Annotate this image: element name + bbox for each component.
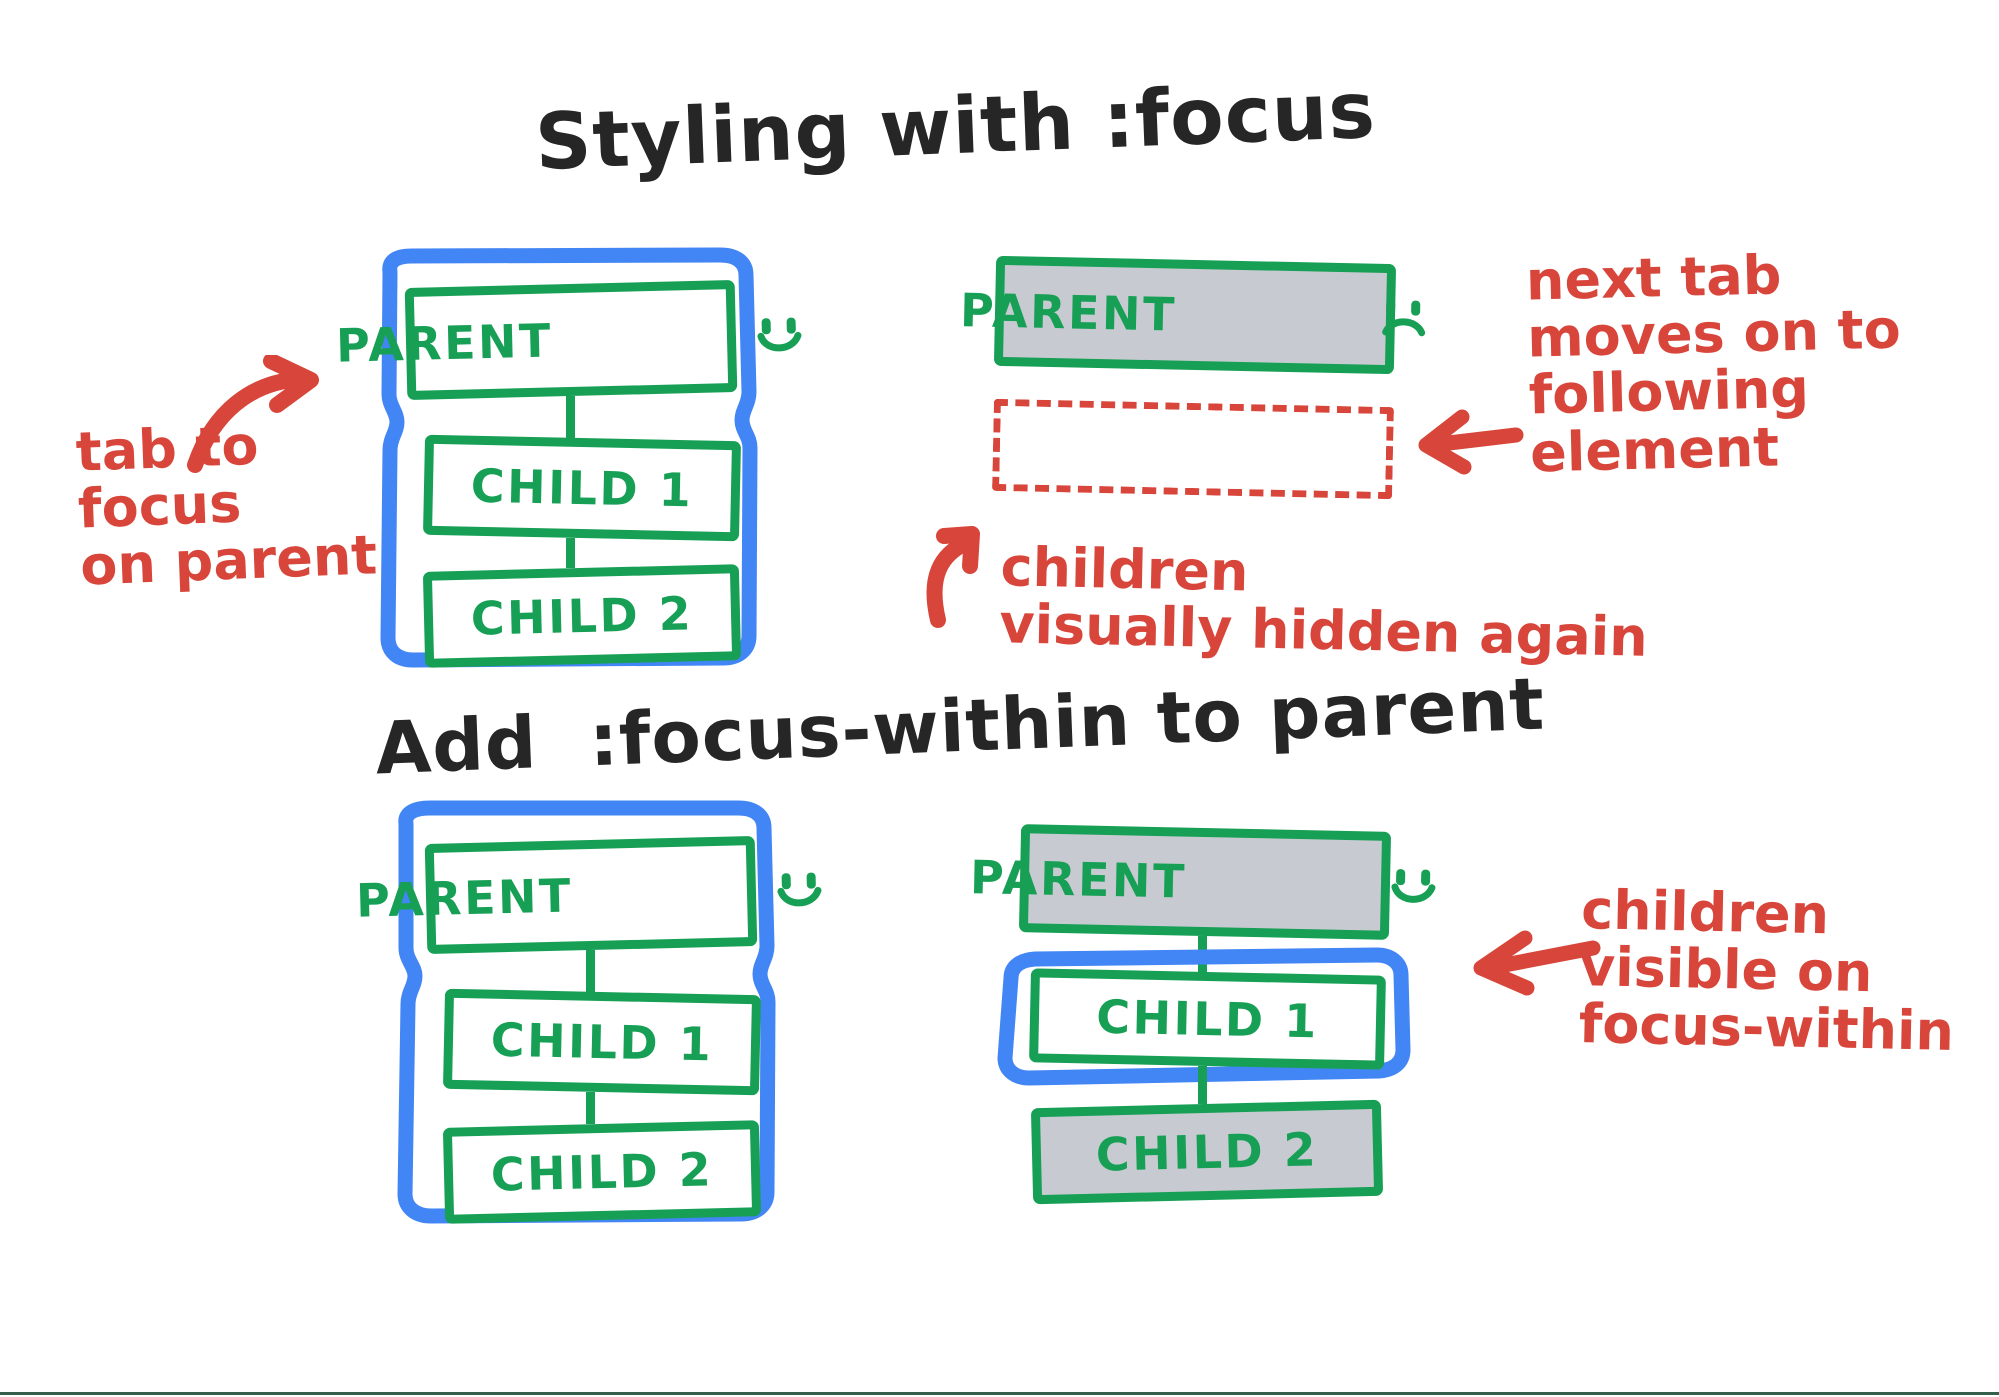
node-child-1-2-label: CHILD 1 xyxy=(490,1013,713,1072)
node-child-2-label: CHILD 2 xyxy=(470,586,694,645)
connector-child1-child2 xyxy=(566,538,575,568)
node-parent-2-label-wrap: PARENT xyxy=(355,862,826,927)
diagram-bottom-left: PARENT CHILD 1 CHILD 2 xyxy=(400,810,790,1230)
node-child-2-2-label: CHILD 2 xyxy=(490,1142,714,1201)
node-child-2-3[interactable]: CHILD 2 xyxy=(1031,1100,1383,1205)
node-child-2-2[interactable]: CHILD 2 xyxy=(443,1120,761,1224)
diagram-bottom-right: PARENT CHILD 1 CHILD 2 xyxy=(1000,810,1420,1230)
node-child-2-3-label: CHILD 2 xyxy=(1095,1122,1319,1181)
node-parent-blurred-label-wrap: PARENT xyxy=(960,283,1431,347)
section-heading-focus-within: Add :focus-within to parent xyxy=(374,668,1546,785)
annotation-tab-to-focus: tab to focus on parent xyxy=(75,412,378,595)
connector-child1-child2-2 xyxy=(586,1092,595,1124)
annotation-children-visible: children visible on focus-within xyxy=(1578,881,1957,1061)
node-parent-blurred[interactable]: PARENT xyxy=(994,256,1396,374)
node-parent-3-label-wrap: PARENT xyxy=(970,850,1441,914)
node-parent-3[interactable]: PARENT xyxy=(1019,824,1391,940)
children-hidden-arrow-icon xyxy=(910,520,1000,630)
node-parent[interactable]: PARENT xyxy=(405,280,738,400)
node-child-1-label: CHILD 1 xyxy=(470,459,693,518)
node-parent-2-text: PARENT xyxy=(355,868,573,927)
node-child-1-3-label: CHILD 1 xyxy=(1096,990,1319,1049)
node-child-2[interactable]: CHILD 2 xyxy=(423,564,741,668)
smiley-face-icon xyxy=(568,313,806,361)
annotation-next-tab: next tab moves on to following element xyxy=(1525,243,1904,481)
smiley-face-icon xyxy=(1202,861,1440,908)
connector-parent-child1-2 xyxy=(586,950,595,992)
node-parent-3-text: PARENT xyxy=(970,850,1188,909)
node-parent-2[interactable]: PARENT xyxy=(425,836,758,954)
sketch-canvas: Styling with :focus PARENT CHI xyxy=(0,0,1999,1397)
node-child-1-2[interactable]: CHILD 1 xyxy=(443,989,761,1096)
diagram-top-right: PARENT xyxy=(985,255,1405,515)
page-title: Styling with :focus xyxy=(534,72,1377,182)
frown-face-icon xyxy=(1192,294,1430,341)
connector-parent-child1-3 xyxy=(1198,936,1207,972)
node-parent-blurred-text: PARENT xyxy=(960,283,1178,342)
empty-slot-dashed xyxy=(992,399,1394,499)
next-tab-arrow-icon xyxy=(1408,405,1528,485)
diagram-top-left: PARENT CHILD 1 CHILD 2 xyxy=(378,252,768,672)
connector-parent-child1 xyxy=(566,396,575,438)
connector-child1-child2-3 xyxy=(1198,1066,1207,1104)
node-child-1[interactable]: CHILD 1 xyxy=(423,435,741,542)
node-child-1-3[interactable]: CHILD 1 xyxy=(1029,968,1386,1069)
annotation-children-hidden: children visually hidden again xyxy=(999,538,1650,666)
smiley-face-icon xyxy=(588,868,826,916)
bottom-divider xyxy=(0,1392,1999,1395)
